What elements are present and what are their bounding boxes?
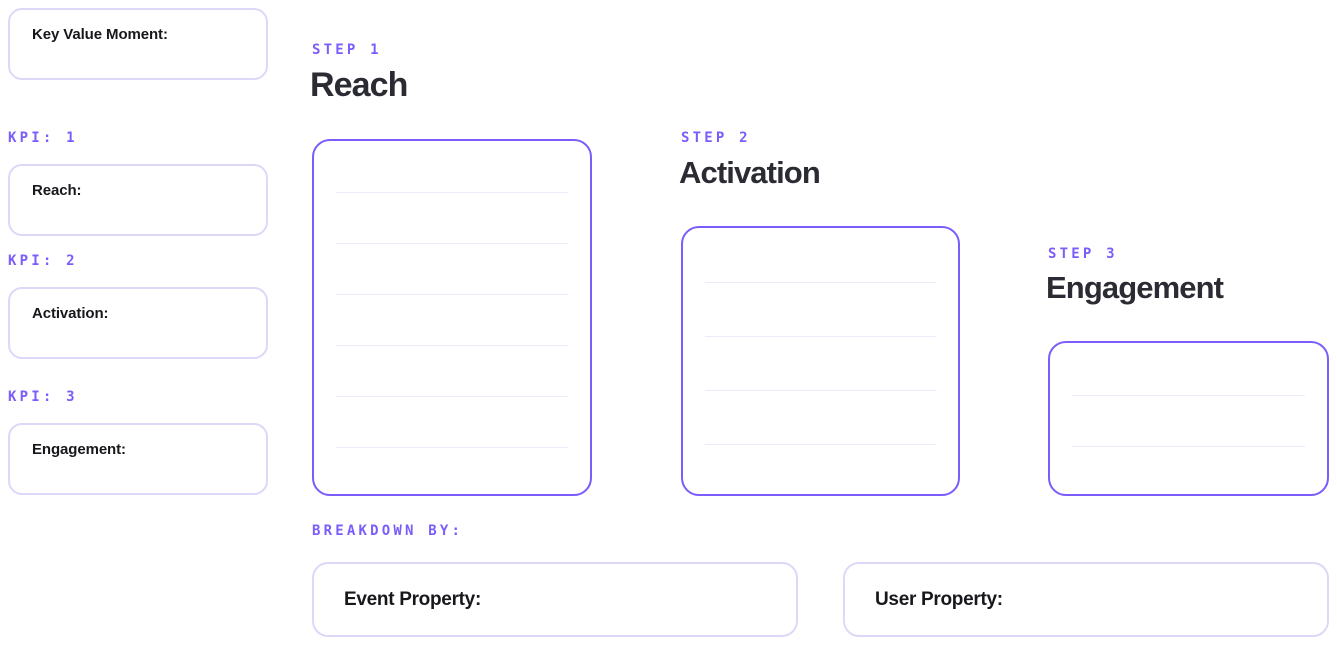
card-rule-line — [1072, 446, 1305, 447]
card-rule-line — [336, 294, 568, 295]
worksheet-canvas: Key Value Moment: KPI: 1 Reach: KPI: 2 A… — [0, 0, 1337, 646]
key-value-moment-label: Key Value Moment: — [32, 26, 168, 43]
card-rule-line — [336, 345, 568, 346]
card-rule-line — [705, 282, 936, 283]
step-2-eyebrow: STEP 2 — [681, 130, 751, 146]
kpi-1-box[interactable]: Reach: — [8, 164, 268, 236]
step-3-eyebrow: STEP 3 — [1048, 246, 1118, 262]
step-3-card[interactable] — [1048, 341, 1329, 496]
event-property-box[interactable]: Event Property: — [312, 562, 798, 637]
card-rule-line — [336, 192, 568, 193]
card-rule-line — [336, 243, 568, 244]
step-1-title: Reach — [310, 66, 408, 105]
step-1-eyebrow: STEP 1 — [312, 42, 382, 58]
breakdown-by-eyebrow: BREAKDOWN BY: — [312, 523, 463, 539]
card-rule-line — [705, 444, 936, 445]
user-property-label: User Property: — [875, 589, 1003, 611]
key-value-moment-box[interactable]: Key Value Moment: — [8, 8, 268, 80]
kpi-2-box[interactable]: Activation: — [8, 287, 268, 359]
kpi-2-eyebrow: KPI: 2 — [8, 253, 78, 269]
card-rule-line — [336, 447, 568, 448]
card-rule-line — [705, 336, 936, 337]
kpi-1-label: Reach: — [32, 182, 81, 199]
kpi-3-label: Engagement: — [32, 441, 126, 458]
card-rule-line — [1072, 395, 1305, 396]
kpi-1-eyebrow: KPI: 1 — [8, 130, 78, 146]
kpi-2-label: Activation: — [32, 305, 108, 322]
card-rule-line — [705, 390, 936, 391]
step-2-title: Activation — [679, 155, 820, 191]
step-2-card[interactable] — [681, 226, 960, 496]
event-property-label: Event Property: — [344, 589, 481, 611]
step-3-title: Engagement — [1046, 270, 1223, 306]
user-property-box[interactable]: User Property: — [843, 562, 1329, 637]
kpi-3-box[interactable]: Engagement: — [8, 423, 268, 495]
kpi-3-eyebrow: KPI: 3 — [8, 389, 78, 405]
step-1-card[interactable] — [312, 139, 592, 496]
card-rule-line — [336, 396, 568, 397]
